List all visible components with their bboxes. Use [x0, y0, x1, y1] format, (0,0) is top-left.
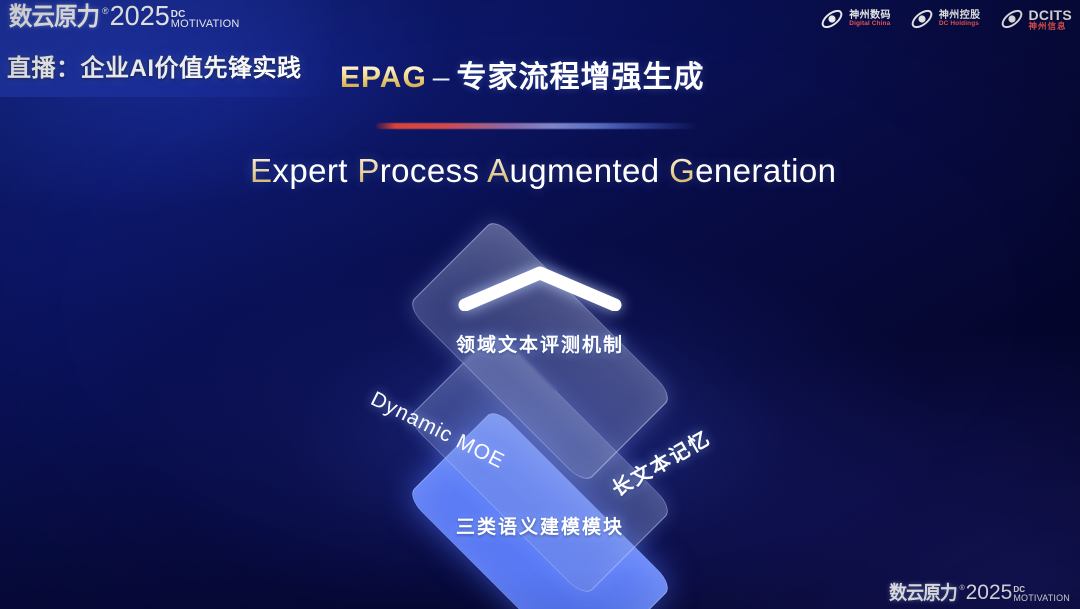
headline-divider: [376, 123, 698, 129]
subtitle-cap-g: G: [669, 152, 695, 189]
layer-label-top: 领域文本评测机制: [300, 330, 780, 357]
slide-canvas: 数云原力 ® 2025 DC MOTIVATION 直播：企业AI价值先锋实践 …: [0, 0, 1080, 609]
watermark-brand-cn: 数云原力: [890, 584, 958, 603]
partner-logo-dcits: DCITS 神州信息: [999, 6, 1073, 32]
partner-name-en: DCITS: [1029, 8, 1073, 22]
watermark-registered-mark: ®: [959, 585, 964, 592]
brand-logo-cn: 数云原力: [9, 5, 99, 30]
brand-logo: 数云原力 ® 2025 DC MOTIVATION: [6, 3, 240, 30]
slide-headline: EPAG–专家流程增强生成: [340, 52, 704, 96]
headline-acronym: EPAG: [340, 61, 427, 94]
swirl-logo-icon: [819, 6, 845, 32]
live-stream-title: 直播：企业AI价值先锋实践: [7, 48, 302, 83]
subtitle-cap-p: P: [357, 152, 379, 189]
partner-logo-group: 神州数码 Digital China 神州控股 DC Holdings: [819, 6, 1072, 32]
layered-architecture-diagram: 领域文本评测机制 Dynamic MOE 长文本记忆 三类语义建模模块: [300, 215, 780, 585]
subtitle-cap-e: E: [250, 152, 272, 189]
brand-logo-year: 2025: [110, 3, 170, 31]
brand-logo-dc-motivation: DC MOTIVATION: [171, 10, 240, 29]
watermark-year: 2025: [966, 582, 1013, 603]
subtitle-word-expert: xpert: [272, 152, 357, 189]
swirl-logo-icon: [909, 6, 935, 32]
subtitle-word-generation: eneration: [695, 152, 836, 189]
partner-logo-digital-china: 神州数码 Digital China: [819, 6, 891, 32]
brand-watermark: 数云原力 ® 2025 DC MOTIVATION: [887, 582, 1070, 603]
swirl-logo-icon: [999, 6, 1025, 32]
subtitle-word-augmented: ugmented: [510, 152, 670, 189]
watermark-dc-motivation: DC MOTIVATION: [1013, 586, 1070, 602]
partner-name-en: DC Holdings: [939, 21, 981, 28]
headline-dash: –: [427, 61, 457, 94]
layer-label-bottom: 三类语义建模模块: [300, 512, 780, 539]
partner-name-en: Digital China: [849, 21, 891, 28]
partner-name-cn: 神州信息: [1029, 22, 1073, 31]
watermark-motivation-label: MOTIVATION: [1013, 594, 1070, 602]
brand-motivation-label: MOTIVATION: [171, 19, 240, 29]
subtitle-cap-a: A: [487, 152, 509, 189]
brand-registered-mark: ®: [102, 7, 109, 16]
headline-chinese: 专家流程增强生成: [456, 61, 704, 94]
chevron-up-icon: [457, 265, 623, 311]
slide-subtitle: Expert Process Augmented Generation: [250, 152, 836, 190]
subtitle-word-process: rocess: [380, 152, 487, 189]
partner-logo-dc-holdings: 神州控股 DC Holdings: [909, 6, 981, 32]
